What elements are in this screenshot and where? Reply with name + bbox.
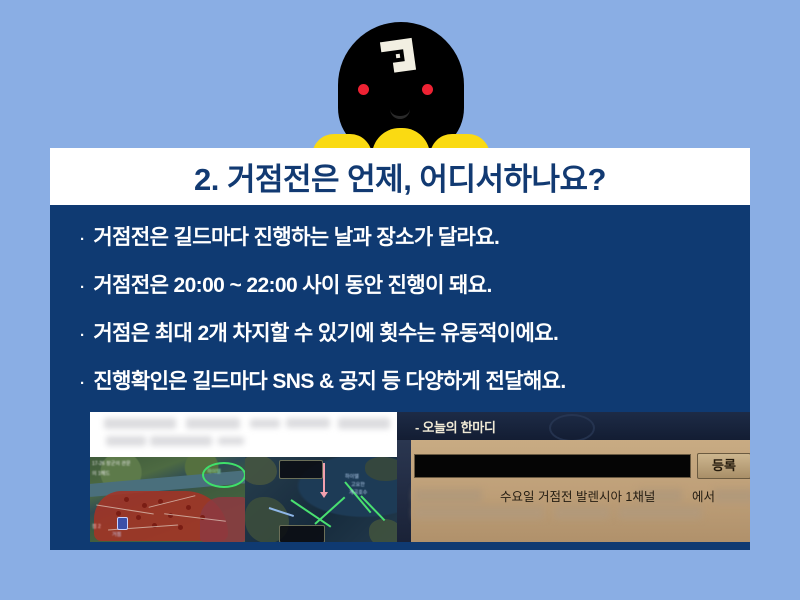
guild-message-row: 수요일 거점전 발렌시아 1채널 에서	[414, 486, 750, 508]
map-label: 의 1해드	[92, 470, 110, 477]
map-pointer-arrow	[323, 463, 325, 493]
message-input[interactable]	[414, 454, 691, 478]
map-tooltip	[279, 460, 323, 479]
map-highlight-label: 하이델	[207, 468, 221, 475]
list-item: · 진행확인은 길드마다 SNS & 공지 등 다양하게 전달해요.	[80, 365, 750, 413]
bullet-marker: ·	[80, 327, 84, 344]
guild-territory-map: 하이델 17-26 장군의 관문 의 1해드 거점 점 2	[90, 457, 245, 542]
collage-left-section: 하이델 17-26 장군의 관문 의 1해드 거점 점 2	[90, 412, 397, 542]
list-item: · 거점전은 길드마다 진행하는 날과 장소가 달라요.	[80, 221, 750, 269]
map-highlight-circle	[202, 462, 245, 488]
page-title: 2. 거점전은 언제, 어디서하나요?	[194, 154, 606, 199]
guild-message-text: 수요일 거점전 발렌시아 1채널	[500, 486, 655, 508]
guild-message-suffix: 에서	[692, 486, 715, 508]
bullet-marker: ·	[80, 375, 84, 392]
map-label: 17-26 장군의 관문	[92, 460, 131, 467]
bullet-marker: ·	[80, 279, 84, 296]
bullet-text: 거점전은 20:00 ~ 22:00 사이 동안 진행이 돼요.	[93, 269, 491, 299]
map-label: 하이델	[345, 473, 359, 480]
header-ornament-icon	[549, 414, 595, 442]
mascot-cheek-right	[422, 84, 433, 95]
list-item: · 거점전은 20:00 ~ 22:00 사이 동안 진행이 돼요.	[80, 269, 750, 317]
map-label: 계곡호수	[349, 489, 367, 496]
aerial-node-map: 하이델 고요한 계곡호수	[245, 457, 397, 542]
list-item: · 거점은 최대 2개 차지할 수 있기에 횟수는 유동적이에요.	[80, 317, 750, 365]
bullet-text: 거점은 최대 2개 차지할 수 있기에 횟수는 유동적이에요.	[93, 317, 558, 347]
bullet-list: · 거점전은 길드마다 진행하는 날과 장소가 달라요. · 거점전은 20:0…	[50, 205, 750, 423]
panel-header-title: - 오늘의 한마디	[415, 417, 496, 436]
mascot-character	[318, 14, 484, 154]
submit-button[interactable]: 등록	[697, 453, 750, 479]
info-card: 2. 거점전은 언제, 어디서하나요? · 거점전은 길드마다 진행하는 날과 …	[50, 148, 750, 550]
panel-header: - 오늘의 한마디	[397, 412, 750, 440]
panel-body: 등록 수요일 거점전 발렌시아 1채널 에서	[397, 440, 750, 542]
bullet-text: 거점전은 길드마다 진행하는 날과 장소가 달라요.	[93, 221, 499, 251]
game-guild-message-panel: - 오늘의 한마디 등록 수요일 거점전 발렌시아 1채널 에서	[397, 412, 750, 542]
panel-side-rail	[397, 440, 411, 542]
screenshot-collage: 하이델 17-26 장군의 관문 의 1해드 거점 점 2	[90, 412, 750, 542]
map-screenshots-row: 하이델 17-26 장군의 관문 의 1해드 거점 점 2	[90, 457, 397, 542]
mascot-cheek-left	[358, 84, 369, 95]
map-tooltip	[279, 525, 325, 542]
map-marker-icon	[117, 517, 128, 530]
map-label: 고요한	[351, 481, 365, 488]
card-title-band: 2. 거점전은 언제, 어디서하나요?	[50, 148, 750, 205]
bullet-text: 진행확인은 길드마다 SNS & 공지 등 다양하게 전달해요.	[93, 365, 565, 395]
square-spiral-emblem-icon	[378, 36, 419, 77]
blurred-text-banner	[90, 412, 397, 457]
bullet-marker: ·	[80, 231, 84, 248]
